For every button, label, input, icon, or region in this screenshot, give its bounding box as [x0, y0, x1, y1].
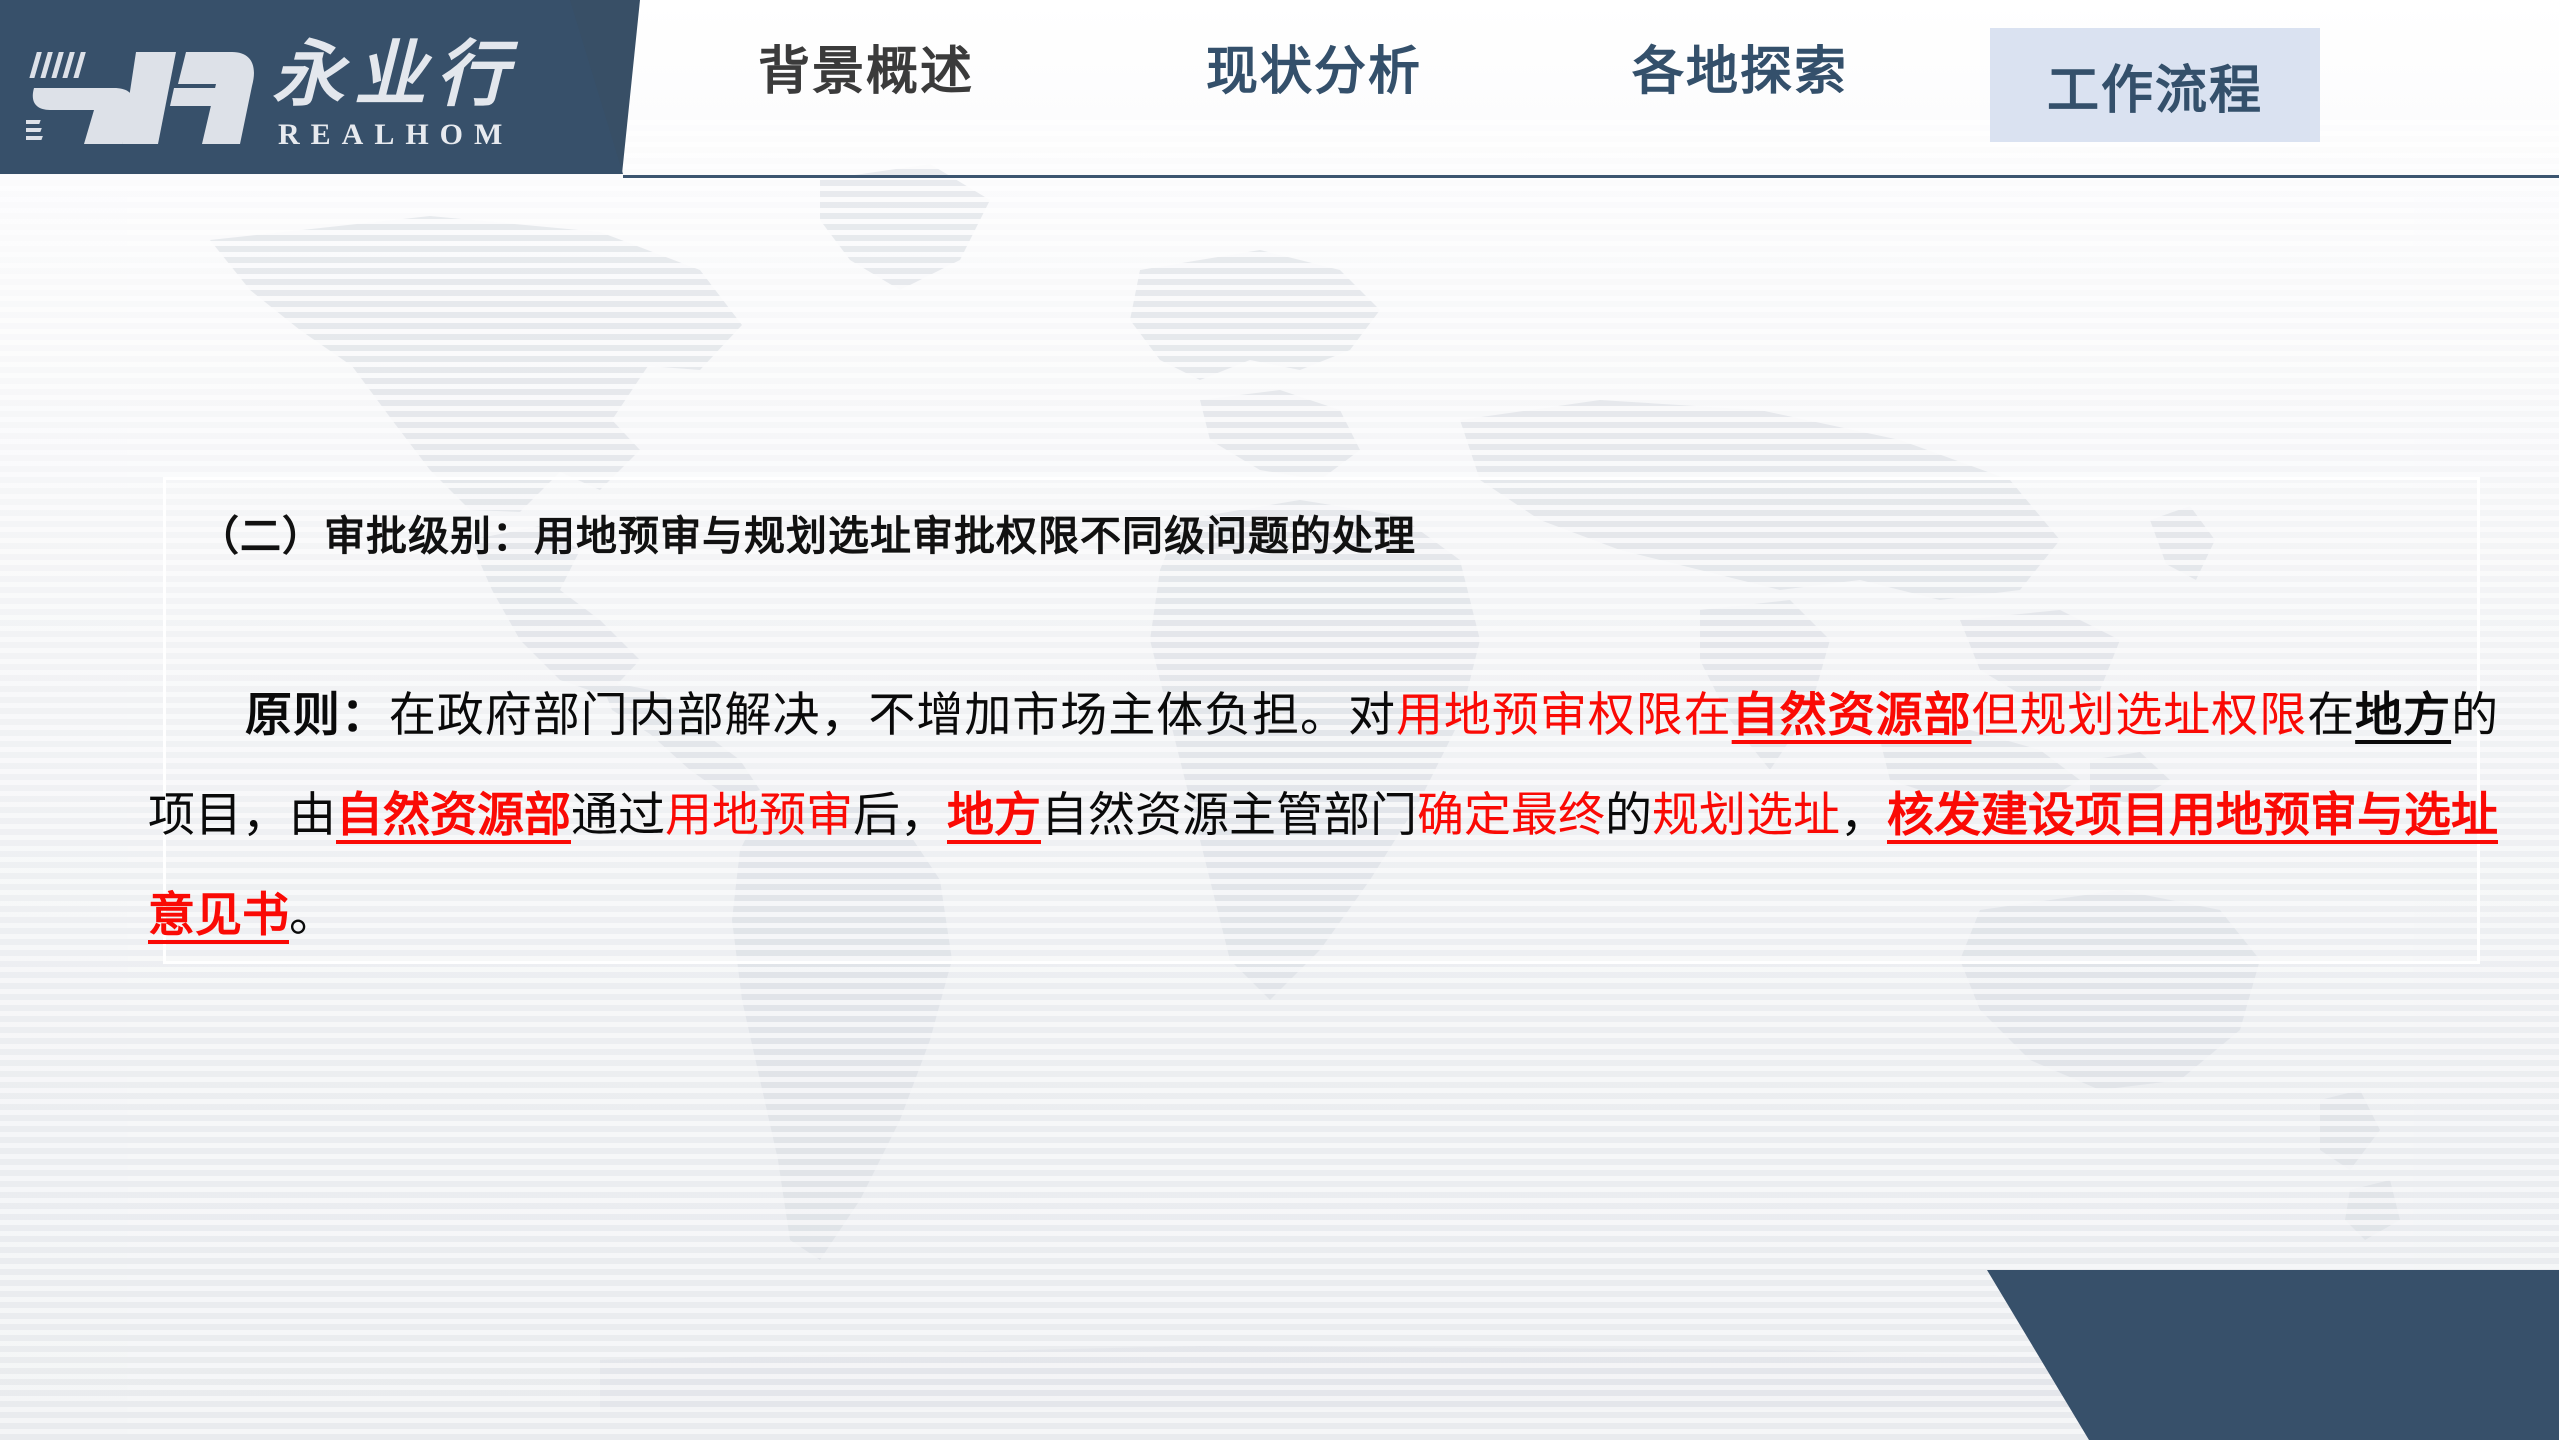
seg-siting-authority: 规划选址权限	[2019, 688, 2307, 741]
card-heading: （二）审批级别：用地预审与规划选址审批权限不同级问题的处理	[198, 502, 1416, 562]
seg-comma: ，	[1840, 788, 1887, 841]
seg-determine-final: 确定最终	[1417, 788, 1605, 841]
seg-through: 通过	[571, 788, 665, 841]
seg-de: 的	[1605, 788, 1652, 841]
seg-ministry-2: 自然资源部	[336, 788, 571, 841]
seg-local-1: 地方	[2355, 688, 2451, 741]
seg-principle-label: 原则：	[244, 688, 389, 741]
nav-item-current-analysis[interactable]: 现状分析	[1154, 20, 1474, 112]
seg-local-2: 地方	[947, 788, 1041, 841]
seg-period: 。	[289, 888, 336, 941]
card-body-paragraph: 原则：在政府部门内部解决，不增加市场主体负担。对用地预审权限在自然资源部但规划选…	[148, 665, 2498, 965]
seg-at-2: 在	[2307, 688, 2355, 741]
seg-preapproval-authority: 用地预审权限	[1396, 688, 1684, 741]
yh-monogram-logo-icon	[26, 34, 276, 154]
logo-svg	[26, 34, 276, 154]
section-nav: 背景概述 现状分析 各地探索 工作流程	[640, 0, 2559, 174]
content-card: （二）审批级别：用地预审与规划选址审批权限不同级问题的处理 原则：在政府部门内部…	[163, 477, 2480, 964]
seg-planning-siting: 规划选址	[1652, 788, 1840, 841]
seg-intro: 在政府部门内部解决，不增加市场主体负担。对	[389, 688, 1396, 741]
slide-header: 永业行 REALHOM 背景概述 现状分析 各地探索 工作流程	[0, 0, 2559, 178]
nav-item-regional-exploration[interactable]: 各地探索	[1580, 20, 1900, 112]
nav-item-workflow-active[interactable]: 工作流程	[1990, 28, 2320, 142]
seg-after: 后，	[853, 788, 947, 841]
seg-land-preapproval: 用地预审	[665, 788, 853, 841]
seg-ministry-1: 自然资源部	[1732, 688, 1972, 741]
nav-item-background-overview[interactable]: 背景概述	[706, 20, 1026, 112]
seg-at-1: 在	[1684, 688, 1732, 741]
brand-name-cn: 永业行	[272, 26, 572, 124]
header-divider-rule	[623, 175, 2559, 178]
brand-name-en: REALHOM	[278, 118, 513, 152]
seg-but: 但	[1971, 688, 2019, 741]
seg-local-authority-dept: 自然资源主管部门	[1041, 788, 1417, 841]
